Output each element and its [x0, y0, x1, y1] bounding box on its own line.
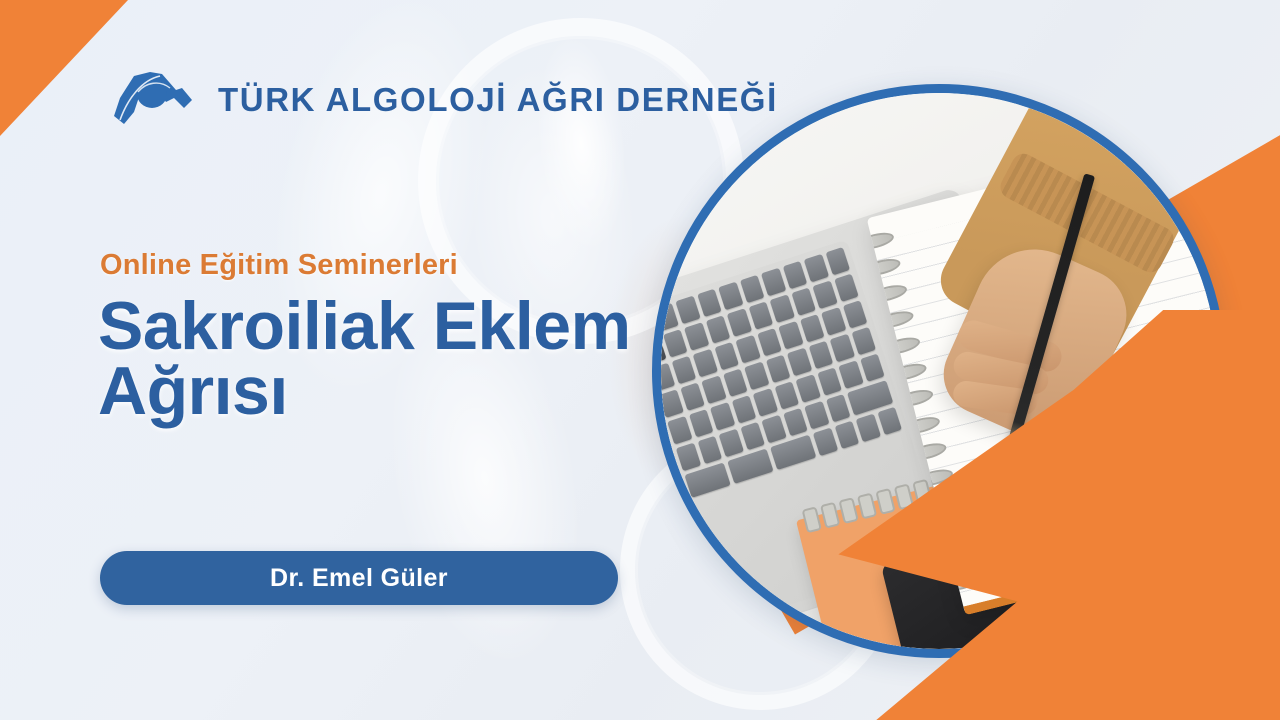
- algoloji-arc-logo-icon: [104, 68, 200, 132]
- speaker-name: Dr. Emel Güler: [270, 564, 448, 593]
- logo-text: TÜRK ALGOLOJİ AĞRI DERNEĞİ: [218, 81, 778, 119]
- seminar-title: Sakroiliak Eklem Ağrısı: [98, 294, 698, 425]
- seminar-title-line-2: Ağrısı: [98, 359, 698, 424]
- seminar-announcement-slide: TÜRK ALGOLOJİ AĞRI DERNEĞİ Online Eğitim…: [0, 0, 1280, 720]
- association-logo: TÜRK ALGOLOJİ AĞRI DERNEĞİ: [104, 68, 778, 132]
- speaker-badge: Dr. Emel Güler: [100, 551, 618, 605]
- seminar-title-line-1: Sakroiliak Eklem: [98, 294, 698, 359]
- seminar-subtitle: Online Eğitim Seminerleri: [100, 249, 458, 282]
